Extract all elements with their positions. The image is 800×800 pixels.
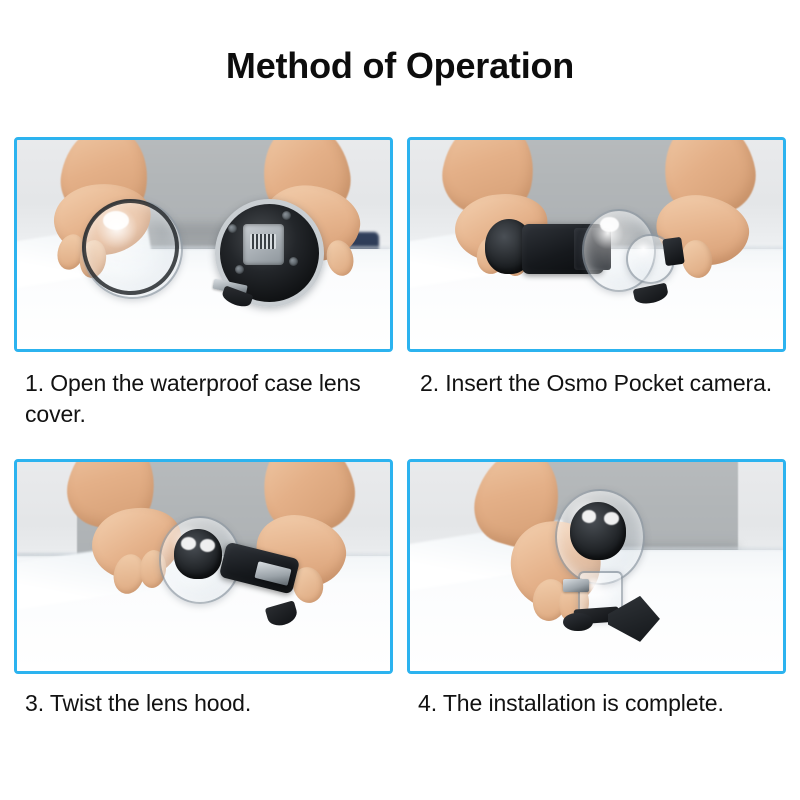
steps-grid: 1. Open the waterproof case lens cover. bbox=[14, 137, 786, 719]
camera-glint bbox=[582, 510, 597, 523]
step-3-photo bbox=[17, 462, 390, 671]
camera-glint bbox=[181, 537, 196, 550]
step-3-caption: 3. Twist the lens hood. bbox=[14, 688, 393, 719]
camera-gimbal-head bbox=[174, 529, 222, 579]
step-card-3: 3. Twist the lens hood. bbox=[14, 459, 393, 719]
step-1-caption: 1. Open the waterproof case lens cover. bbox=[14, 368, 393, 429]
step-2-caption: 2. Insert the Osmo Pocket camera. bbox=[407, 368, 786, 399]
case-contact-pins bbox=[250, 234, 276, 249]
camera-gimbal-head bbox=[570, 502, 626, 561]
case-buckle bbox=[662, 237, 684, 266]
step-2-photo bbox=[410, 140, 783, 349]
step-card-2: 2. Insert the Osmo Pocket camera. bbox=[407, 137, 786, 429]
case-glint bbox=[600, 217, 619, 232]
case-screw bbox=[228, 224, 237, 233]
step-1-photo bbox=[17, 140, 390, 349]
step-4-photo-frame bbox=[407, 459, 786, 674]
step-4-photo bbox=[410, 462, 783, 671]
step-card-1: 1. Open the waterproof case lens cover. bbox=[14, 137, 393, 429]
step-1-photo-frame bbox=[14, 137, 393, 352]
case-latch-lever bbox=[563, 579, 589, 592]
dome-glint bbox=[103, 211, 129, 230]
dome-lens-cover-ring bbox=[82, 199, 179, 295]
page-title: Method of Operation bbox=[0, 46, 800, 86]
case-screw bbox=[282, 211, 291, 220]
camera-glint bbox=[200, 539, 215, 552]
camera-glint bbox=[604, 512, 619, 525]
tripod-knob bbox=[563, 613, 593, 632]
step-4-caption: 4. The installation is complete. bbox=[407, 688, 786, 719]
step-2-photo-frame bbox=[407, 137, 786, 352]
step-card-4: 4. The installation is complete. bbox=[407, 459, 786, 719]
step-3-photo-frame bbox=[14, 459, 393, 674]
